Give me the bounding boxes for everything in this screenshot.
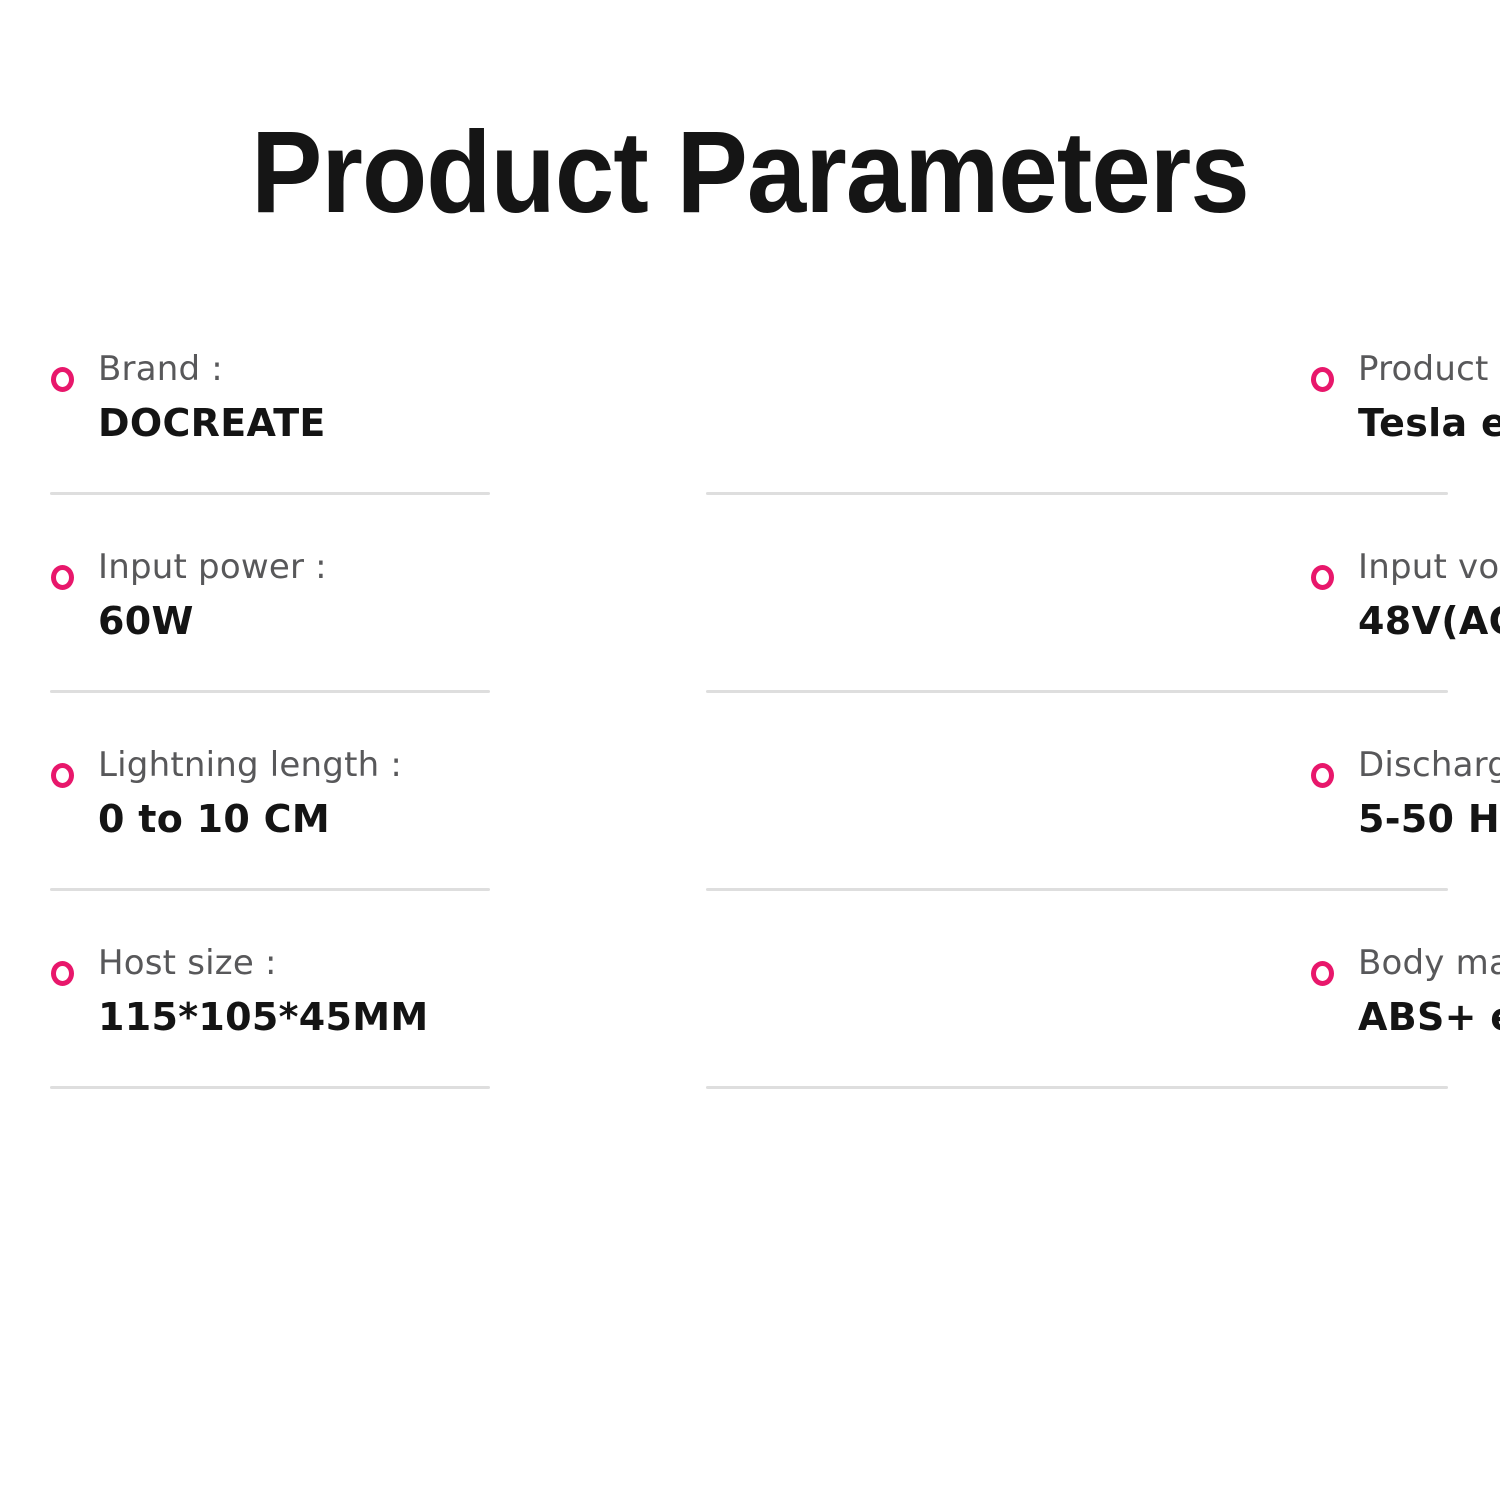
spec-text: Lightning length : 0 to 10 CM [50,748,655,838]
ring-bullet-icon [51,565,74,590]
ring-bullet-icon [1311,367,1334,392]
spec-text: Discharge frequency : 5-50 Hz (Lightning… [1310,748,1450,838]
spec-value: 0 to 10 CM [98,800,655,838]
row-dividers [0,492,1500,495]
row-dividers [0,888,1500,891]
ring-bullet-icon [51,763,74,788]
spec-text: Product name : Tesla electronic coil [1310,352,1450,442]
divider-right [706,492,1448,495]
spec-row: Brand : DOCREATE Product name : Tesla el… [0,352,1500,550]
spec-text: Host size : 115*105*45MM [50,946,655,1036]
spec-label: Input power : [98,550,655,584]
divider-right [706,690,1448,693]
spec-value: Tesla electronic coil [1358,404,1450,442]
spec-text: Input voltage : 48V(AC110V - 240V) [1310,550,1450,640]
spec-text: Body material : ABS+ electronic componen… [1310,946,1450,1036]
spec-value: 5-50 Hz (Lightning mode) [1358,800,1450,838]
spec-item-body-material: Body material : ABS+ electronic componen… [605,946,1450,1036]
spec-label: Product name : [1358,352,1450,386]
spec-value: DOCREATE [98,404,655,442]
spec-label: Brand : [98,352,655,386]
spec-label: Host size : [98,946,655,980]
spec-item-host-size: Host size : 115*105*45MM [0,946,655,1036]
ring-bullet-icon [1311,961,1334,986]
product-parameters-page: Product Parameters Brand : DOCREATE Prod… [0,0,1500,1500]
spec-text: Input power : 60W [50,550,655,640]
divider-right [706,1086,1448,1089]
spec-value: 115*105*45MM [98,998,655,1036]
spec-label: Input voltage : [1358,550,1450,584]
spec-label: Discharge frequency : [1358,748,1450,782]
spec-text: Brand : DOCREATE [50,352,655,442]
spec-item-brand: Brand : DOCREATE [0,352,655,442]
divider-left [50,1086,490,1089]
spec-row: Input power : 60W Input voltage : 48V(AC… [0,550,1500,748]
spec-row: Host size : 115*105*45MM Body material :… [0,946,1500,1144]
spec-item-input-power: Input power : 60W [0,550,655,640]
spec-label: Body material : [1358,946,1450,980]
ring-bullet-icon [51,367,74,392]
spec-item-input-voltage: Input voltage : 48V(AC110V - 240V) [605,550,1450,640]
spec-item-lightning-length: Lightning length : 0 to 10 CM [0,748,655,838]
spec-grid: Brand : DOCREATE Product name : Tesla el… [0,352,1500,1144]
ring-bullet-icon [51,961,74,986]
spec-item-discharge-frequency: Discharge frequency : 5-50 Hz (Lightning… [605,748,1450,838]
row-dividers [0,1086,1500,1089]
spec-value: 48V(AC110V - 240V) [1358,602,1450,640]
divider-left [50,492,490,495]
ring-bullet-icon [1311,565,1334,590]
spec-value: ABS+ electronic components [1358,998,1450,1036]
row-dividers [0,690,1500,693]
spec-label: Lightning length : [98,748,655,782]
ring-bullet-icon [1311,763,1334,788]
spec-item-product-name: Product name : Tesla electronic coil [605,352,1450,442]
divider-left [50,690,490,693]
spec-value: 60W [98,602,655,640]
divider-left [50,888,490,891]
page-title: Product Parameters [60,112,1440,234]
spec-row: Lightning length : 0 to 10 CM Discharge … [0,748,1500,946]
divider-right [706,888,1448,891]
